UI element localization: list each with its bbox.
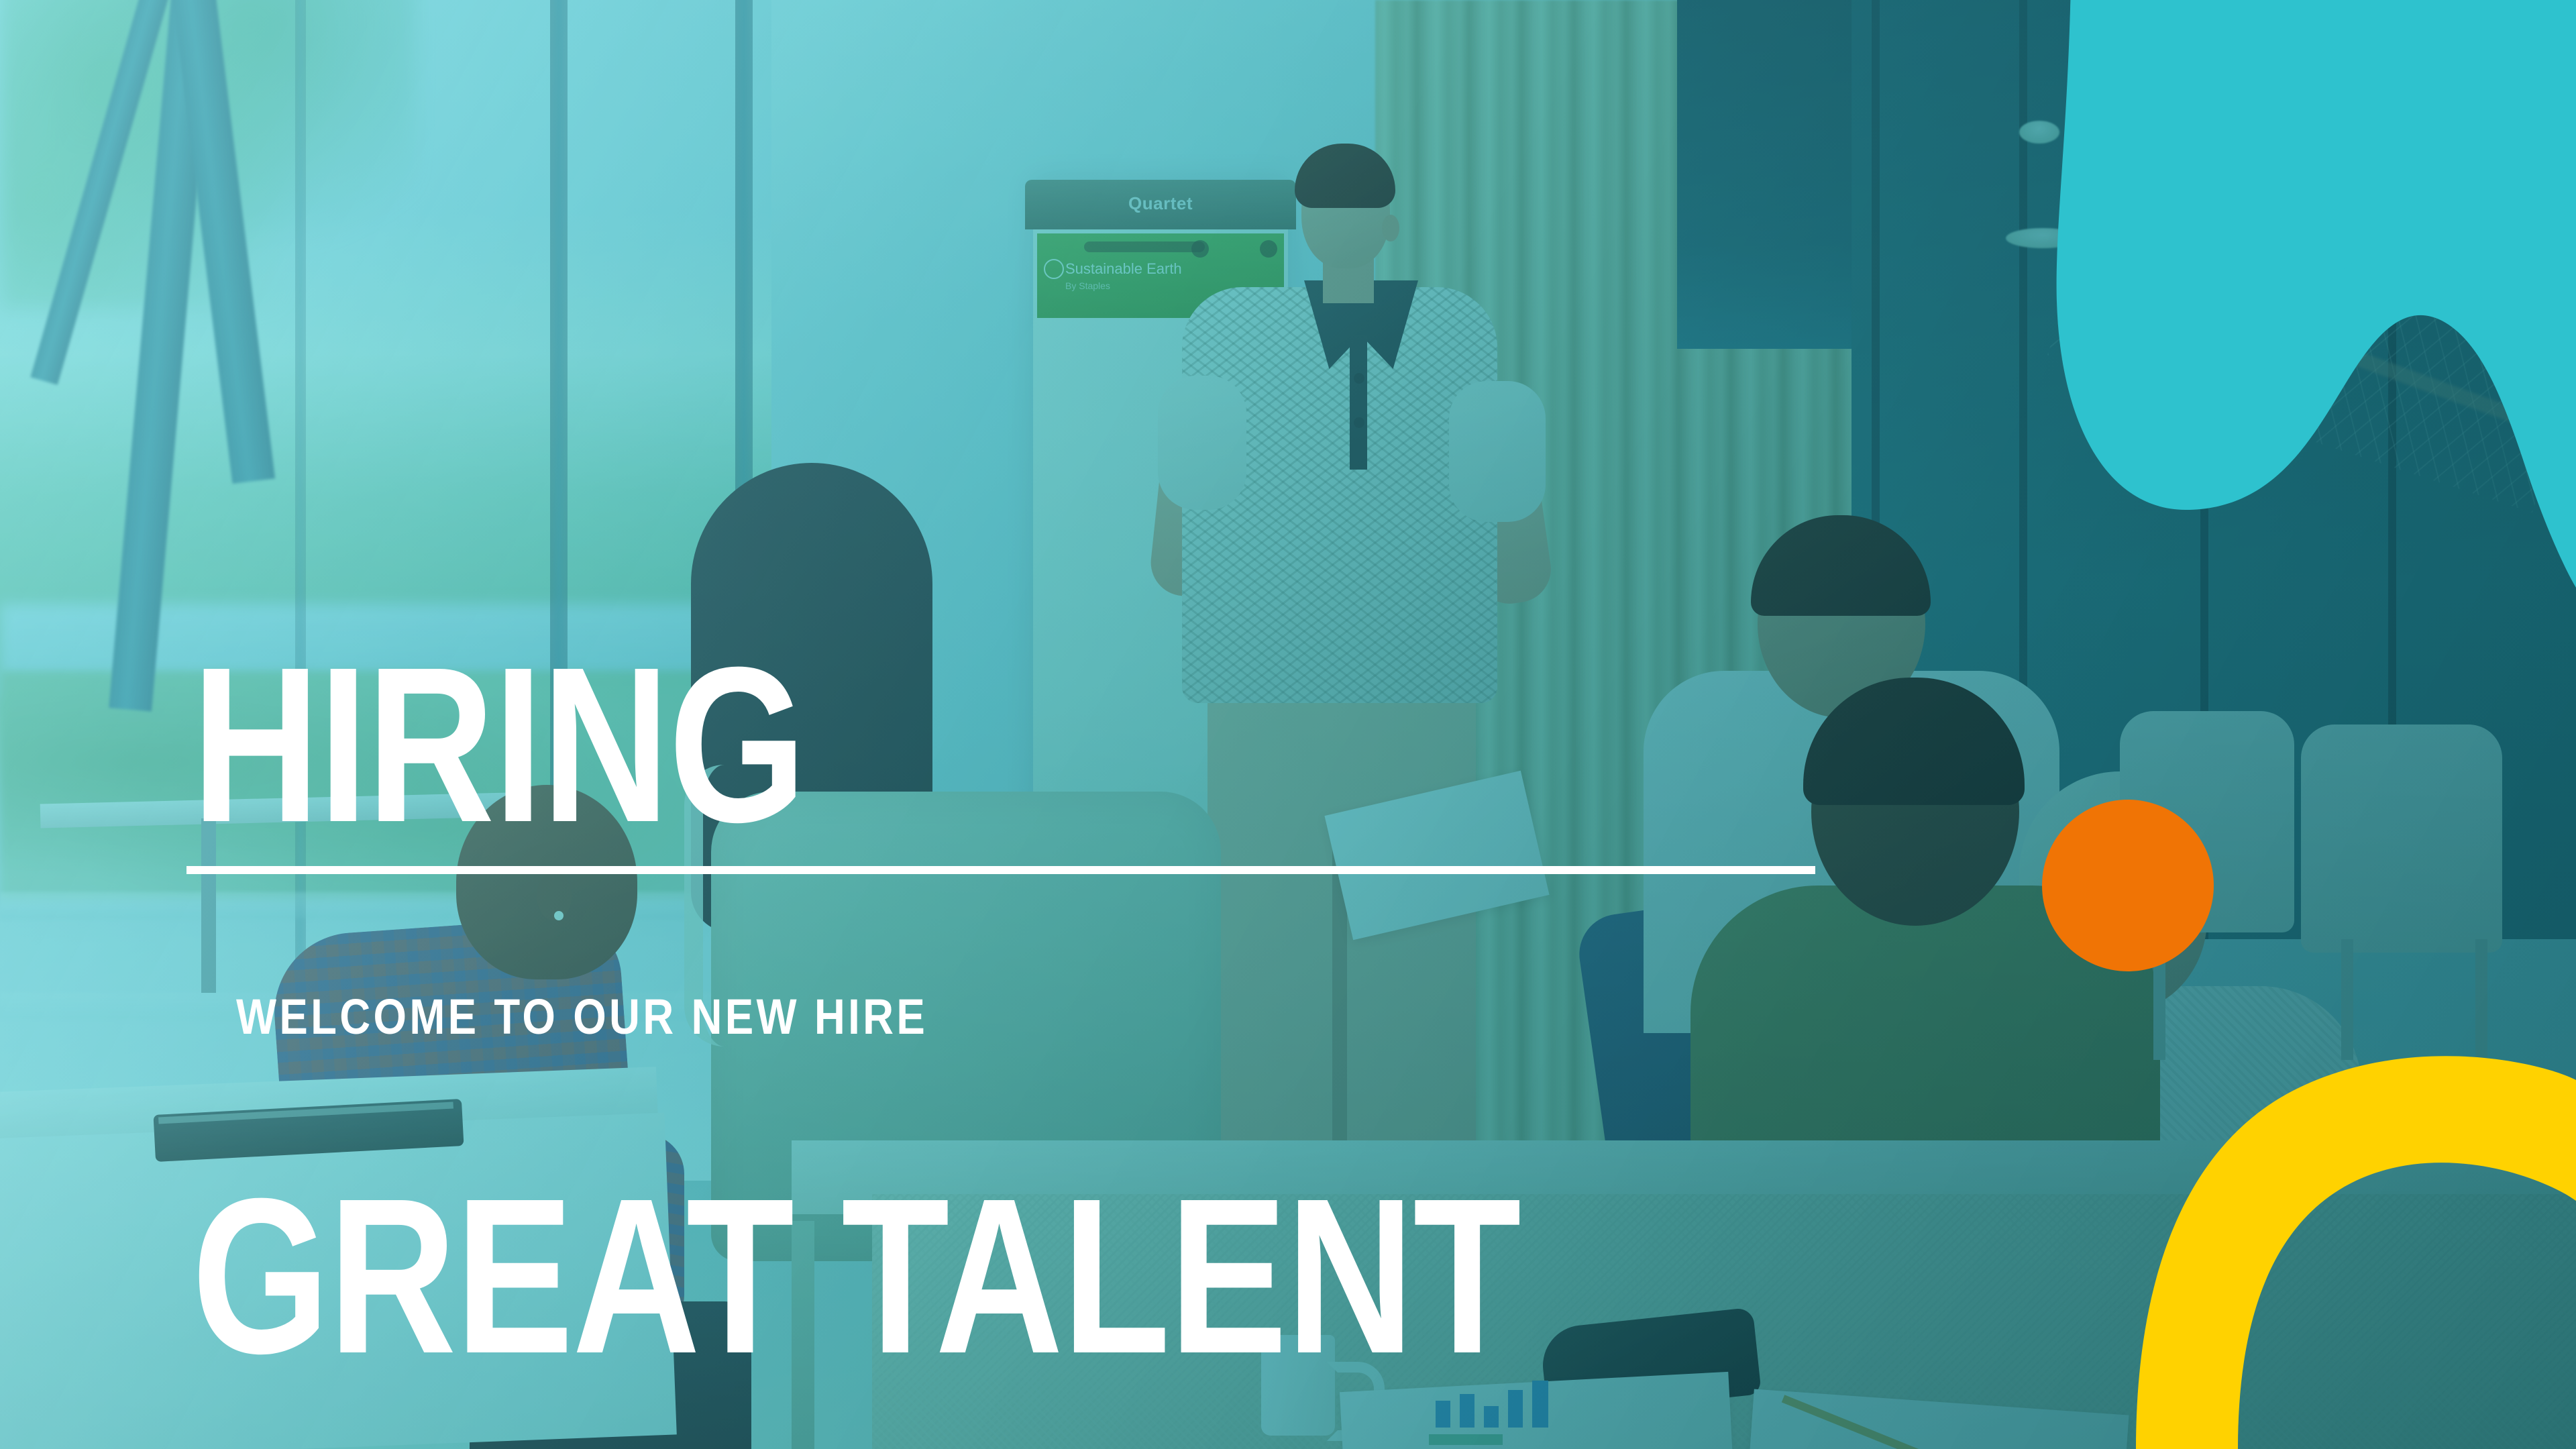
title-divider-rule: [186, 866, 1815, 874]
headline-line-1: HIRING: [192, 656, 1520, 833]
poster-canvas: Quartet Sustainable Earth By Staples: [0, 0, 2576, 1449]
page-title: HIRING GREAT TALENT: [192, 302, 1520, 1449]
subtitle: WELCOME TO OUR NEW HIRE: [236, 992, 928, 1042]
headline-line-2: GREAT TALENT: [192, 1187, 1520, 1364]
